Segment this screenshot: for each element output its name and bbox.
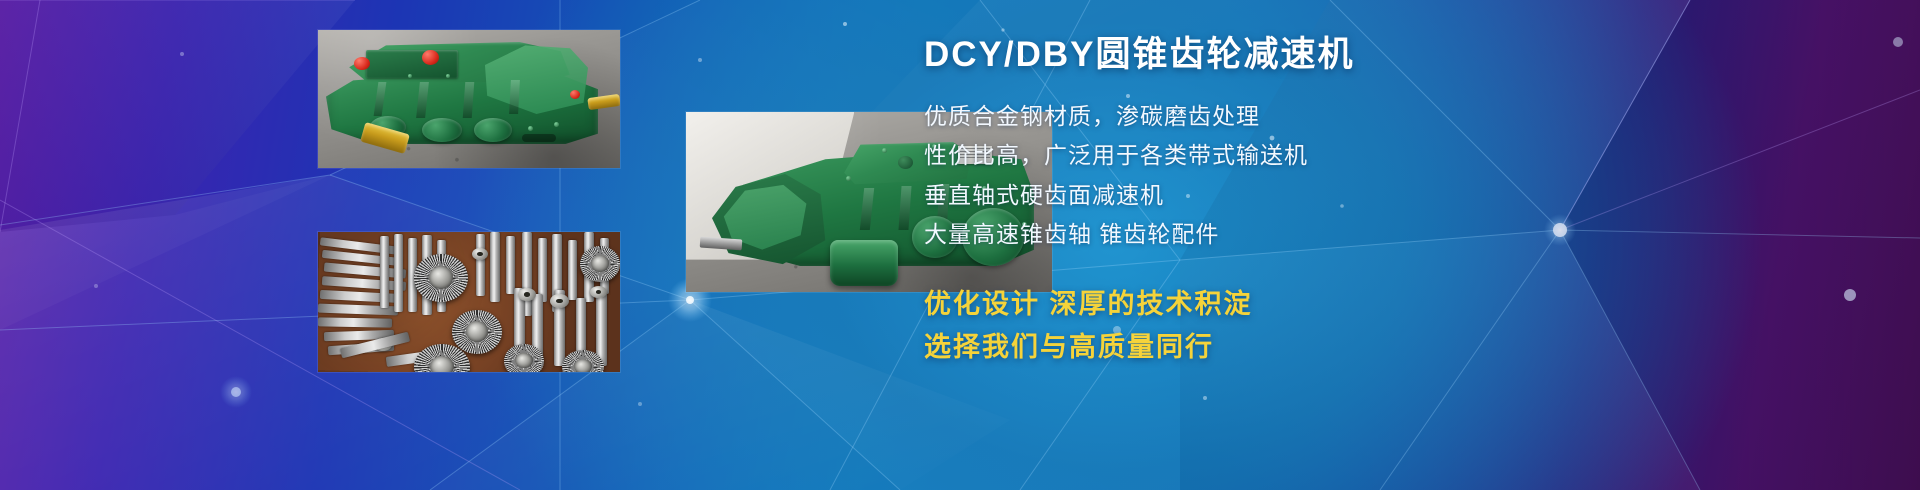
slogan-line: 优化设计 深厚的技术积淀 (924, 283, 1624, 327)
red-cap (354, 57, 370, 70)
product-banner: DCY/DBY圆锥齿轮减速机 优质合金钢材质，渗碳磨齿处理 性价比高，广泛用于各… (0, 0, 1920, 490)
feature-item: 优质合金钢材质，渗碳磨齿处理 (924, 97, 1624, 137)
feature-item: 性价比高，广泛用于各类带式输送机 (924, 136, 1624, 176)
spiral-bevel-gear (580, 246, 620, 282)
red-cap (422, 50, 439, 65)
banner-title: DCY/DBY圆锥齿轮减速机 (924, 36, 1624, 75)
spiral-bevel-gear (504, 344, 544, 372)
feature-item: 大量高速锥齿轴 锥齿轮配件 (924, 215, 1624, 255)
slogan-line: 选择我们与高质量同行 (924, 326, 1624, 370)
feature-item: 垂直轴式硬齿面减速机 (924, 176, 1624, 216)
banner-slogan-group: 优化设计 深厚的技术积淀 选择我们与高质量同行 (924, 283, 1624, 370)
photo-gearbox-top (318, 30, 620, 168)
red-cap (570, 90, 580, 99)
spiral-bevel-gear (414, 254, 468, 302)
spiral-bevel-gear (452, 310, 502, 354)
photo-gear-parts (318, 232, 620, 372)
banner-copy: DCY/DBY圆锥齿轮减速机 优质合金钢材质，渗碳磨齿处理 性价比高，广泛用于各… (924, 36, 1624, 370)
banner-feature-list: 优质合金钢材质，渗碳磨齿处理 性价比高，广泛用于各类带式输送机 垂直轴式硬齿面减… (924, 97, 1624, 255)
